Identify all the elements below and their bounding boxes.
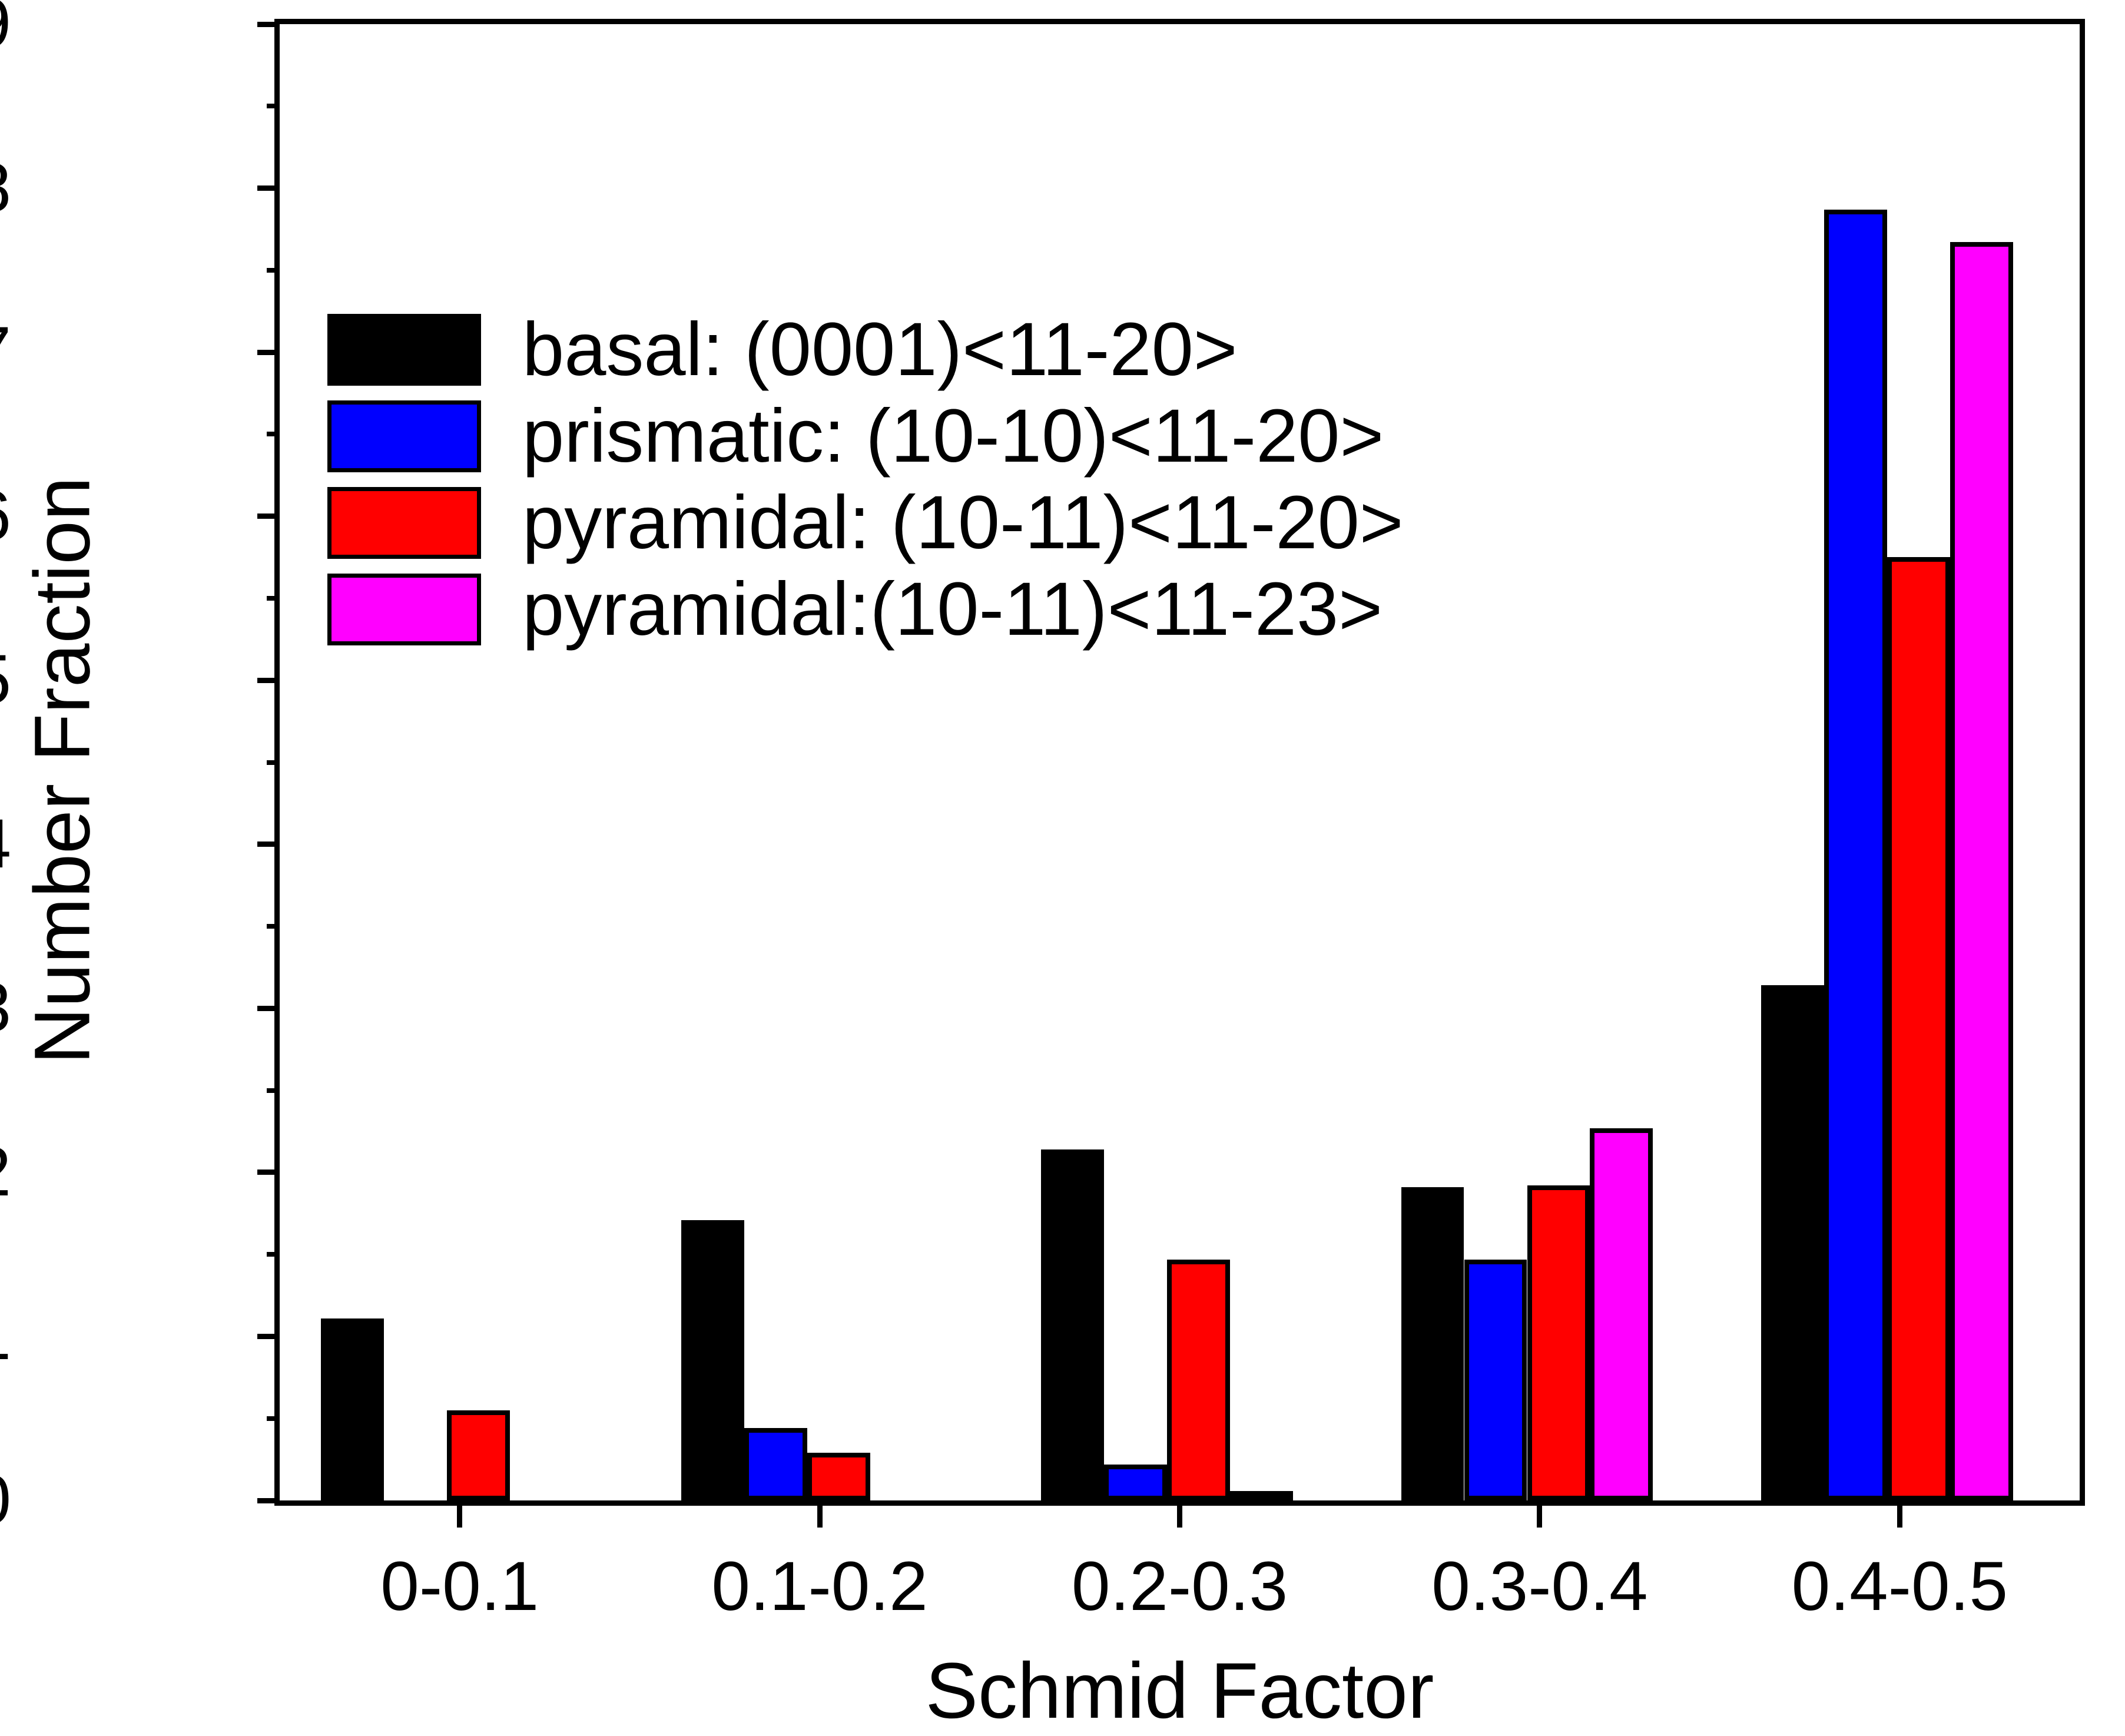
y-axis-minor-tick xyxy=(267,1252,280,1257)
x-axis-tick xyxy=(1537,1500,1542,1528)
bar[interactable] xyxy=(1464,1260,1527,1500)
legend: basal: (0001)<11-20>prismatic: (10-10)<1… xyxy=(327,306,1404,652)
x-axis-tick-label: 0.3-0.4 xyxy=(1431,1552,1647,1621)
plot-area xyxy=(280,24,2080,1500)
y-axis-tick-label: 0.7 xyxy=(0,317,11,386)
bar[interactable] xyxy=(744,1428,807,1500)
y-axis-minor-tick xyxy=(267,432,280,436)
legend-label: pyramidal: (10-11)<11-20> xyxy=(522,485,1404,561)
legend-swatch xyxy=(327,574,481,645)
y-axis-minor-tick xyxy=(267,1088,280,1093)
y-axis-minor-tick xyxy=(267,268,280,273)
y-axis-tick-label: 0.0 xyxy=(0,1465,11,1535)
x-axis-tick xyxy=(457,1500,462,1528)
y-axis-minor-tick xyxy=(267,760,280,765)
y-axis-minor-tick xyxy=(267,1416,280,1421)
bar[interactable] xyxy=(1230,1491,1293,1500)
bar[interactable] xyxy=(321,1318,384,1500)
x-axis-tick xyxy=(1897,1500,1902,1528)
bar[interactable] xyxy=(1761,985,1824,1500)
bar[interactable] xyxy=(1401,1187,1464,1500)
y-axis-major-tick xyxy=(257,1170,280,1175)
bar[interactable] xyxy=(1527,1185,1590,1500)
y-axis-title: Number Fraction xyxy=(18,447,108,1095)
y-axis-major-tick xyxy=(257,22,280,27)
bar[interactable] xyxy=(1041,1149,1104,1500)
bar[interactable] xyxy=(1950,242,2013,1500)
legend-label: prismatic: (10-10)<11-20> xyxy=(522,399,1384,474)
y-axis-tick-label: 0.5 xyxy=(0,645,11,714)
legend-swatch xyxy=(327,400,481,472)
x-axis-tick xyxy=(1177,1500,1182,1528)
legend-row[interactable]: prismatic: (10-10)<11-20> xyxy=(327,393,1404,479)
y-axis-tick-label: 0.9 xyxy=(0,0,11,58)
y-axis-major-tick xyxy=(257,350,280,355)
y-axis-tick-label: 0.4 xyxy=(0,809,11,879)
x-axis-tick-label: 0.1-0.2 xyxy=(711,1552,927,1621)
y-axis-minor-tick xyxy=(267,104,280,108)
y-axis-major-tick xyxy=(257,513,280,519)
bar[interactable] xyxy=(1167,1260,1230,1500)
x-axis-tick-label: 0.2-0.3 xyxy=(1072,1552,1288,1621)
bar[interactable] xyxy=(1824,210,1887,1500)
y-axis-minor-tick xyxy=(267,596,280,601)
x-axis-tick xyxy=(817,1500,823,1528)
y-axis-minor-tick xyxy=(267,924,280,929)
y-axis-major-tick xyxy=(257,1334,280,1339)
legend-row[interactable]: basal: (0001)<11-20> xyxy=(327,306,1404,393)
y-axis-major-tick xyxy=(257,1498,280,1503)
bar[interactable] xyxy=(807,1453,870,1500)
y-axis-tick-label: 0.1 xyxy=(0,1301,11,1370)
bar[interactable] xyxy=(1104,1465,1167,1500)
bar-chart-figure: Number Fraction 0.00.10.20.30.40.50.60.7… xyxy=(0,0,2125,1736)
bar[interactable] xyxy=(447,1410,510,1500)
y-axis-tick-label: 0.2 xyxy=(0,1137,11,1207)
legend-row[interactable]: pyramidal: (10-11)<11-20> xyxy=(327,479,1404,566)
y-axis-tick-label: 0.8 xyxy=(0,153,11,223)
y-axis-major-tick xyxy=(257,185,280,191)
y-axis-tick-label: 0.3 xyxy=(0,973,11,1042)
legend-label: basal: (0001)<11-20> xyxy=(522,312,1238,387)
x-axis-tick-label: 0.4-0.5 xyxy=(1792,1552,2008,1621)
bar[interactable] xyxy=(681,1220,744,1500)
legend-label: pyramidal:(10-11)<11-23> xyxy=(522,572,1383,647)
y-axis-major-tick xyxy=(257,678,280,683)
bar[interactable] xyxy=(1887,557,1950,1500)
x-axis-title: Schmid Factor xyxy=(274,1646,2085,1736)
bar[interactable] xyxy=(1590,1128,1653,1500)
y-axis-major-tick xyxy=(257,842,280,847)
legend-swatch xyxy=(327,314,481,386)
y-axis-major-tick xyxy=(257,1006,280,1011)
plot-frame xyxy=(274,19,2085,1506)
x-axis-tick-label: 0-0.1 xyxy=(380,1552,539,1621)
legend-row[interactable]: pyramidal:(10-11)<11-23> xyxy=(327,566,1404,652)
y-axis-tick-label: 0.6 xyxy=(0,481,11,551)
legend-swatch xyxy=(327,487,481,559)
